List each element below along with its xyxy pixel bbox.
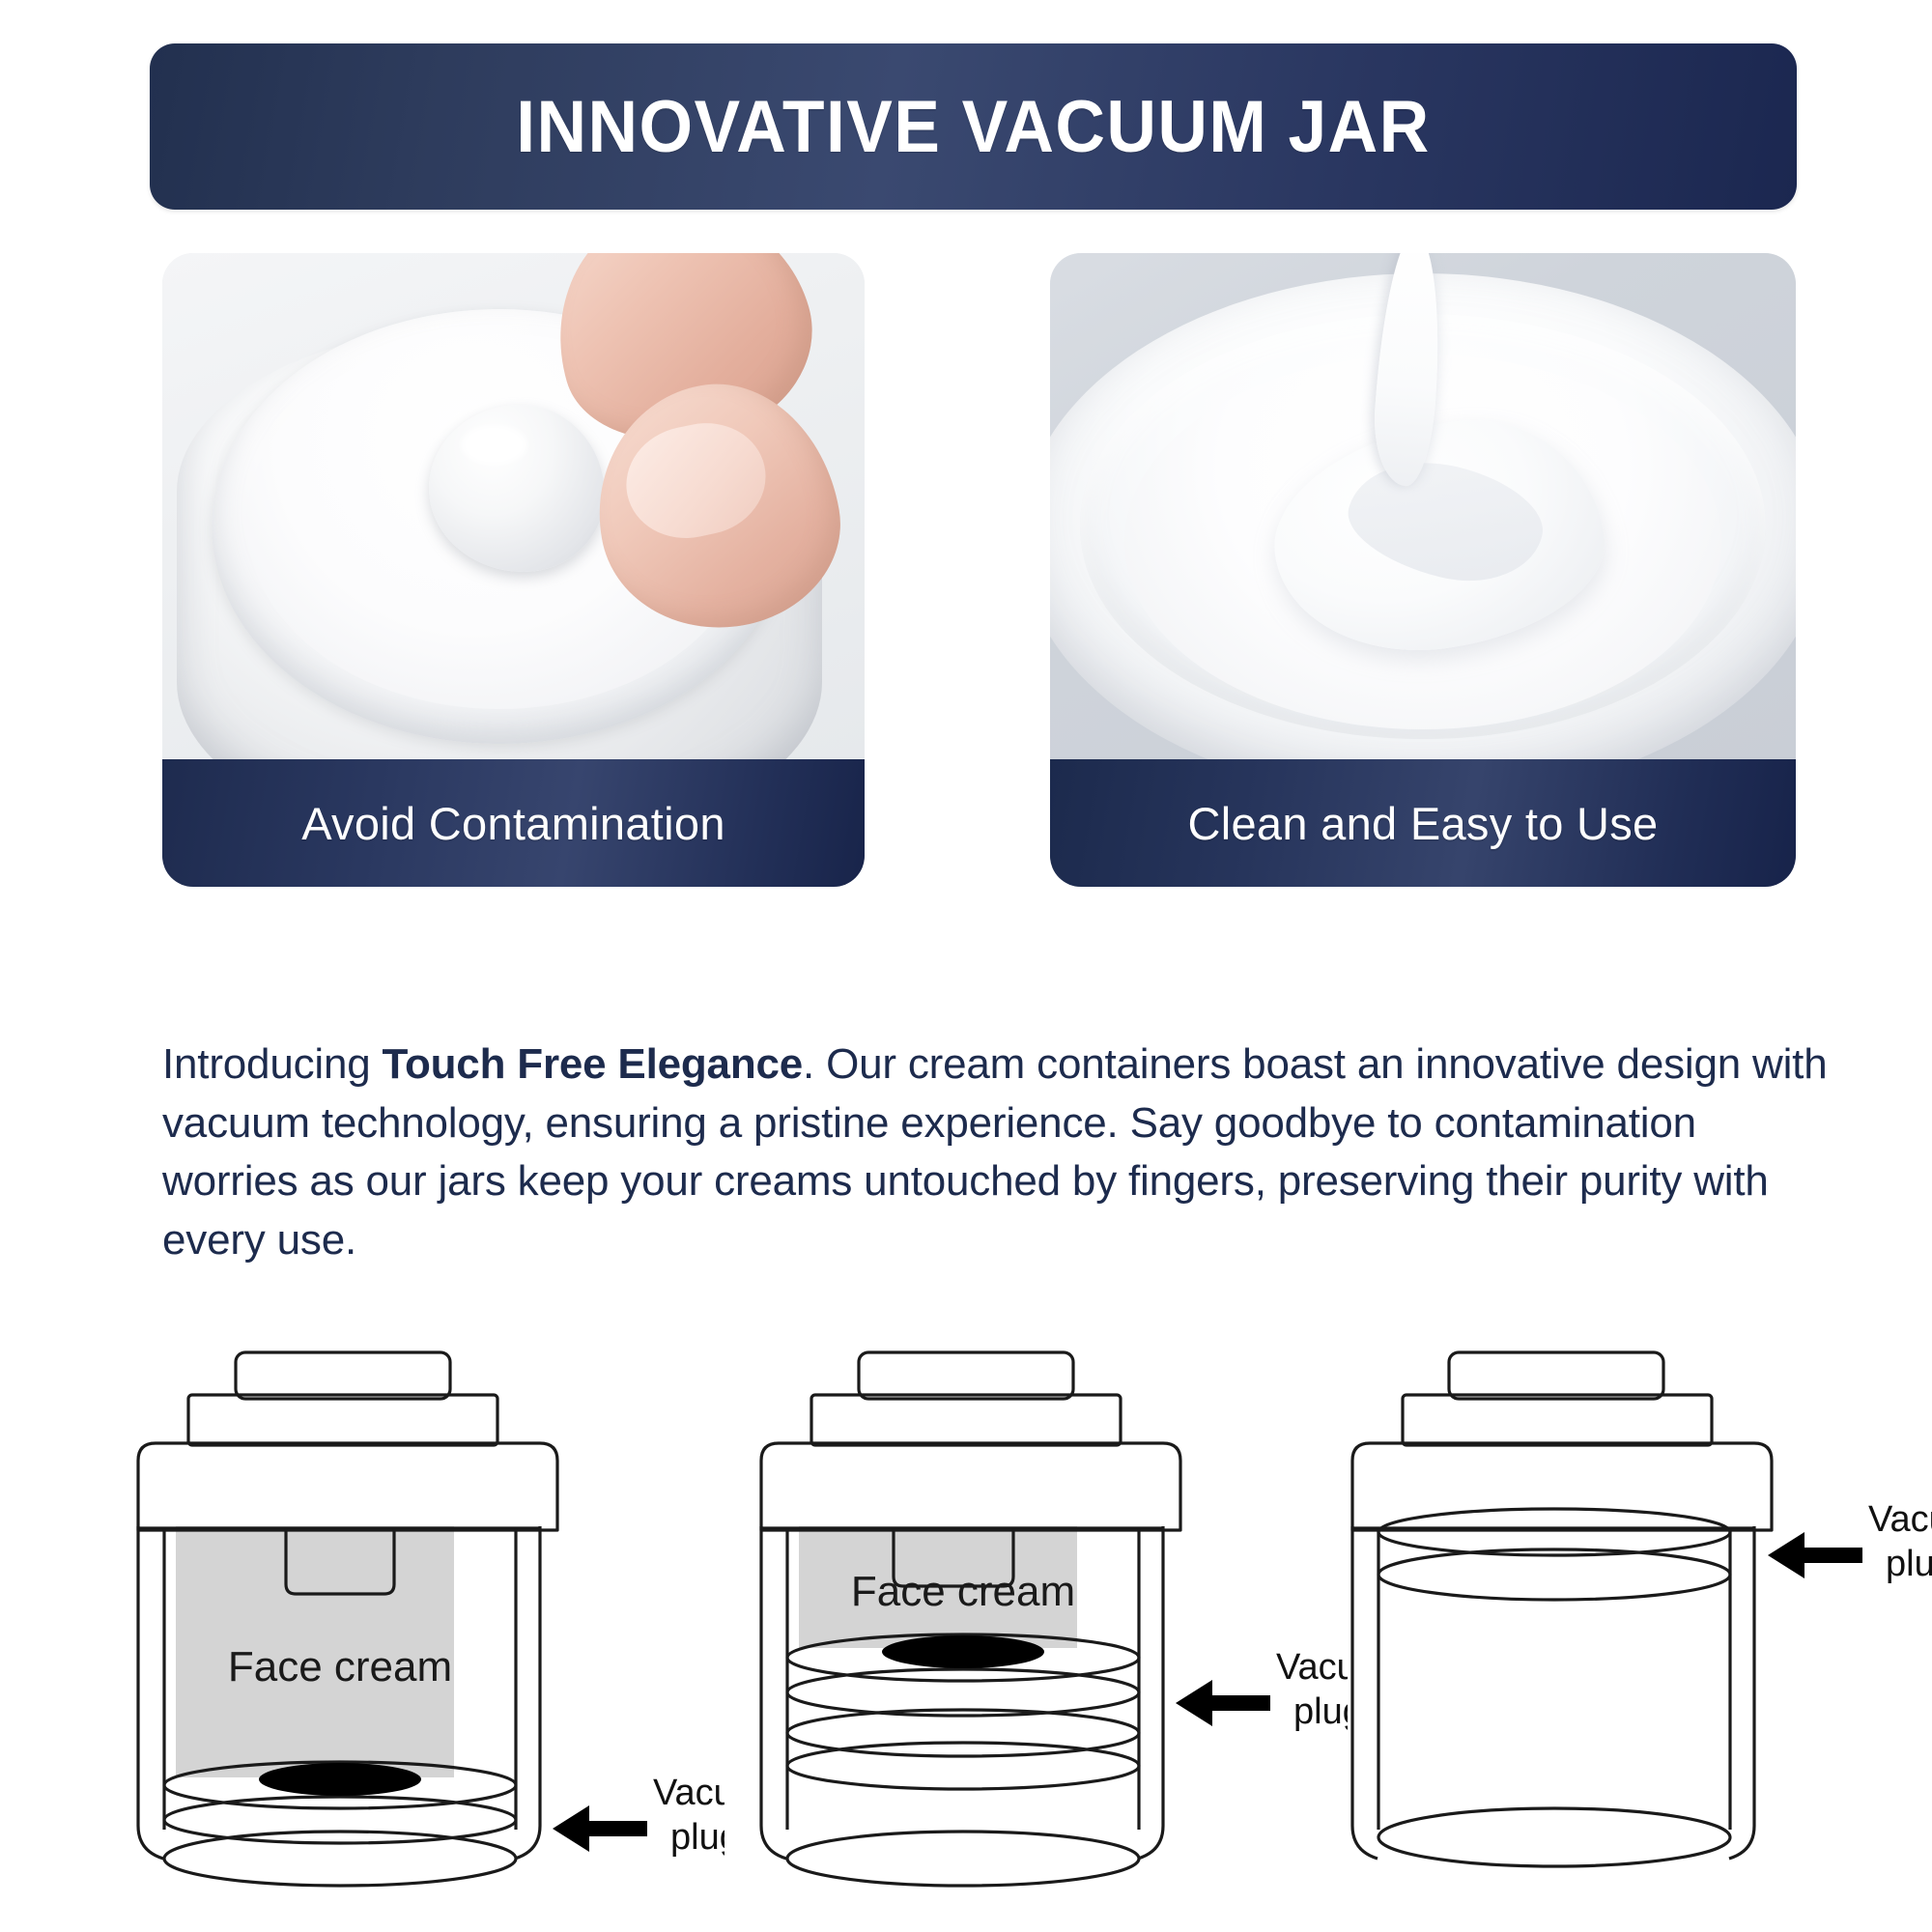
face-cream-label: Face cream: [228, 1643, 452, 1690]
photo-finger-on-jar-lid: [162, 253, 865, 759]
page-title: INNOVATIVE VACUUM JAR: [516, 85, 1430, 169]
vacuum-plug-label-line2: plug: [1886, 1544, 1932, 1584]
caption-bar-avoid-contamination: Avoid Contamination: [162, 759, 865, 887]
vacuum-plug-arrow-icon: [553, 1805, 647, 1852]
vacuum-plug-label-line1: Vacuum: [1868, 1499, 1932, 1540]
feature-card-clean-and-easy[interactable]: Clean and Easy to Use: [1050, 253, 1796, 887]
jar-diagram-full: Vacuum plug Face cream: [106, 1343, 724, 1932]
body-lead: Introducing: [162, 1040, 383, 1088]
body-paragraph: Introducing Touch Free Elegance. Our cre…: [162, 1036, 1833, 1270]
jar-diagram-row: Vacuum plug Face cream: [0, 1343, 1932, 1932]
face-cream-label: Face cream: [851, 1568, 1075, 1615]
vacuum-plug-label-line2: plug: [670, 1817, 724, 1858]
vacuum-plug-arrow-icon: [1176, 1680, 1270, 1726]
feature-card-avoid-contamination[interactable]: Avoid Contamination: [162, 253, 865, 887]
feature-card-row: Avoid Contamination Clean and Easy to Us…: [0, 253, 1932, 887]
caption-bar-clean-and-easy: Clean and Easy to Use: [1050, 759, 1796, 887]
vacuum-plug-label-line1: Vacuum: [653, 1773, 724, 1813]
photo-cream-swirl-in-jar: [1050, 253, 1796, 759]
vacuum-plug-arrow-icon: [1768, 1532, 1862, 1578]
caption-label: Avoid Contamination: [301, 797, 725, 850]
cream-dollop-icon: [429, 405, 605, 572]
product-feature-page: INNOVATIVE VACUUM JAR Avoid Contaminatio…: [0, 0, 1932, 1932]
caption-label: Clean and Easy to Use: [1187, 797, 1658, 850]
body-emphasis: Touch Free Elegance: [383, 1040, 804, 1088]
header-banner: INNOVATIVE VACUUM JAR: [150, 43, 1797, 210]
jar-diagram-half: Vacuum plug Face cream: [729, 1343, 1348, 1932]
jar-diagram-empty: Vacuum plug: [1333, 1343, 1932, 1932]
